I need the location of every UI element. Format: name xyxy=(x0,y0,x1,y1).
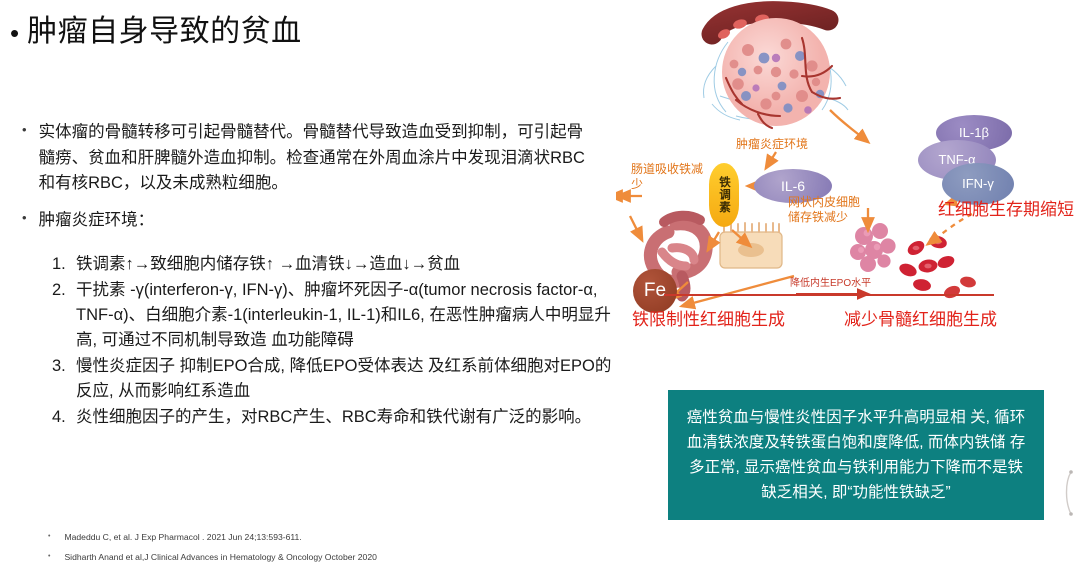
title-text: 肿瘤自身导致的贫血 xyxy=(27,14,302,50)
bullet-dot-icon: • xyxy=(22,208,27,228)
reference-item: • Sidharth Anand et al,J Clinical Advanc… xyxy=(48,552,508,563)
list-item-text: 干扰素 -γ(interferon-γ, IFN-γ)、肿瘤坏死因子-α(tum… xyxy=(76,278,612,353)
list-item: 2. 干扰素 -γ(interferon-γ, IFN-γ)、肿瘤坏死因子-α(… xyxy=(52,278,612,353)
reference-item: • Madeddu C, et al. J Exp Pharmacol . 20… xyxy=(48,532,508,543)
list-item-index: 2. xyxy=(52,278,76,303)
iron-label: Fe xyxy=(644,280,666,302)
edge-artifact xyxy=(1063,470,1075,516)
slide-canvas: • 肿瘤自身导致的贫血 • 实体瘤的骨髓转移可引起骨髓替代。骨髓替代导致造血受到… xyxy=(0,0,1080,573)
cytokine-ifng-label: IFN-γ xyxy=(962,177,994,191)
hepcidin-node: 铁调素 xyxy=(709,163,739,227)
label-reduced-marrow-erythropoiesis: 减少骨髓红细胞生成 xyxy=(844,310,1059,330)
cytokine-il1b-label: IL-1β xyxy=(959,126,989,140)
page-title: • 肿瘤自身导致的贫血 xyxy=(10,14,302,50)
body-paragraph-1: • 实体瘤的骨髓转移可引起骨髓替代。骨髓替代导致造血受到抑制，可引起骨髓痨、贫血… xyxy=(22,120,592,197)
paragraph-2-text: 肿瘤炎症环境： xyxy=(39,208,155,234)
list-item: 1. 铁调素↑→致细胞内储存铁↑ →血清铁↓→造血↓→贫血 xyxy=(52,252,612,277)
rbc-survival-cluster-illustration xyxy=(942,275,977,300)
list-item: 4. 炎性细胞因子的产生，对RBC产生、RBC寿命和铁代谢有广泛的影响。 xyxy=(52,405,612,430)
epo-cell-cluster-illustration xyxy=(850,223,896,272)
label-reticuloendothelial-iron: 网状内皮细胞储存铁减少 xyxy=(788,195,868,224)
list-item-text: 炎性细胞因子的产生，对RBC产生、RBC寿命和铁代谢有广泛的影响。 xyxy=(76,405,591,430)
title-bullet-icon: • xyxy=(10,20,19,46)
reference-text: Sidharth Anand et al,J Clinical Advances… xyxy=(64,552,376,563)
hepcidin-label: 铁调素 xyxy=(716,176,732,214)
bullet-dot-icon: • xyxy=(22,120,27,140)
label-lower-endogenous-epo: 降低内生EPO水平 xyxy=(790,278,880,290)
reticuloendothelial-cell-illustration xyxy=(720,223,782,268)
list-item-index: 1. xyxy=(52,252,76,277)
cytokine-il6-label: IL-6 xyxy=(781,179,805,194)
pathophysiology-diagram: IL-1β TNF-α IFN-γ IL-6 铁调素 Fe 肿瘤炎症环境 肠道吸… xyxy=(616,0,1080,573)
divider-line xyxy=(664,294,994,296)
label-tumor-inflammation: 肿瘤炎症环境 xyxy=(736,137,826,152)
list-item-text: 铁调素↑→致细胞内储存铁↑ →血清铁↓→造血↓→贫血 xyxy=(76,252,460,277)
list-item-index: 3. xyxy=(52,354,76,379)
label-rbc-survival-shortened: 红细胞生存期缩短 xyxy=(938,200,1080,220)
body-paragraph-2: • 肿瘤炎症环境： xyxy=(22,208,422,234)
red-blood-cell-cluster-illustration xyxy=(897,234,956,293)
conclusion-callout-box: 癌性贫血与慢性炎性因子水平升高明显相 关, 循环血清铁浓度及转铁蛋白饱和度降低,… xyxy=(668,390,1044,520)
list-item: 3. 慢性炎症因子 抑制EPO合成, 降低EPO受体表达 及红系前体细胞对EPO… xyxy=(52,354,612,404)
label-gut-iron-absorption: 肠道吸收铁减少 xyxy=(631,162,709,191)
paragraph-1-text: 实体瘤的骨髓转移可引起骨髓替代。骨髓替代导致造血受到抑制，可引起骨髓痨、贫血和肝… xyxy=(39,120,592,197)
conclusion-text: 癌性贫血与慢性炎性因子水平升高明显相 关, 循环血清铁浓度及转铁蛋白饱和度降低,… xyxy=(682,405,1030,505)
references-list: • Madeddu C, et al. J Exp Pharmacol . 20… xyxy=(48,532,508,572)
tumor-illustration xyxy=(704,12,849,128)
cytokine-ifng: IFN-γ xyxy=(942,163,1014,205)
reference-text: Madeddu C, et al. J Exp Pharmacol . 2021… xyxy=(64,532,301,543)
bullet-dot-icon: • xyxy=(48,532,50,542)
iron-node: Fe xyxy=(633,269,677,313)
label-iron-restricted-erythropoiesis: 铁限制性红细胞生成 xyxy=(632,310,832,330)
numbered-list: 1. 铁调素↑→致细胞内储存铁↑ →血清铁↓→造血↓→贫血 2. 干扰素 -γ(… xyxy=(52,252,612,432)
bullet-dot-icon: • xyxy=(48,552,50,562)
list-item-index: 4. xyxy=(52,405,76,430)
list-item-text: 慢性炎症因子 抑制EPO合成, 降低EPO受体表达 及红系前体细胞对EPO的反应… xyxy=(76,354,612,404)
